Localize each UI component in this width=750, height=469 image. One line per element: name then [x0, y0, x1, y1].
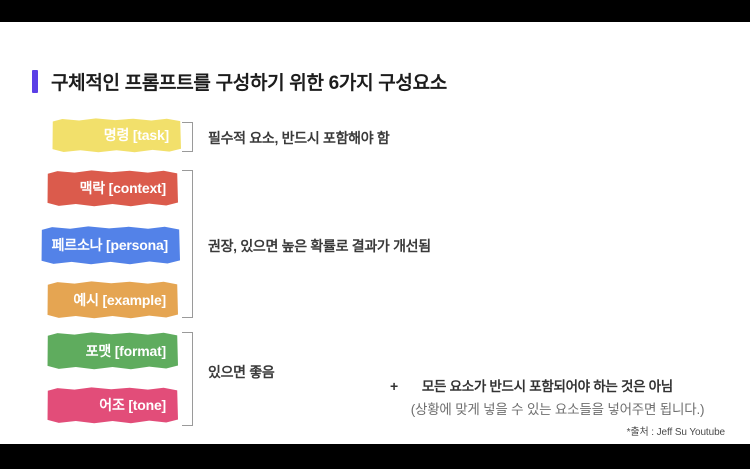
- letterbox-bar-bottom: [0, 444, 750, 469]
- group-description-recommended: 권장, 있으면 높은 확률로 결과가 개선됨: [208, 236, 431, 256]
- footnote-secondary-text: (상황에 맞게 넣을 수 있는 요소들을 넣어주면 됩니다.): [390, 398, 725, 418]
- component-chip-persona[interactable]: 페르소나 [persona]: [41, 226, 180, 265]
- component-chip-task[interactable]: 명령 [task]: [52, 118, 181, 153]
- group-bracket-optional: [182, 332, 193, 426]
- group-description-required: 필수적 요소, 반드시 포함해야 함: [208, 128, 390, 148]
- title-accent-bar: [32, 70, 38, 93]
- footnote-primary-row: + 모든 요소가 반드시 포함되어야 하는 것은 아님: [390, 375, 725, 395]
- slide-canvas: 구체적인 프롬프트를 구성하기 위한 6가지 구성요소 명령 [task] 맥락…: [0, 0, 750, 469]
- footnote-primary-text: 모든 요소가 반드시 포함되어야 하는 것은 아님: [422, 375, 673, 395]
- component-chip-context[interactable]: 맥락 [context]: [47, 170, 178, 207]
- group-bracket-recommended: [182, 170, 193, 318]
- component-chip-example[interactable]: 예시 [example]: [47, 281, 178, 319]
- component-chip-tone[interactable]: 어조 [tone]: [47, 387, 178, 424]
- page-title: 구체적인 프롬프트를 구성하기 위한 6가지 구성요소: [32, 68, 447, 95]
- title-text: 구체적인 프롬프트를 구성하기 위한 6가지 구성요소: [51, 68, 447, 95]
- group-bracket-required: [182, 122, 193, 152]
- letterbox-bar-top: [0, 0, 750, 22]
- group-description-optional: 있으면 좋음: [208, 362, 275, 382]
- plus-icon: +: [390, 378, 398, 394]
- source-attribution: *출처 : Jeff Su Youtube: [0, 423, 725, 438]
- component-chip-format[interactable]: 포맷 [format]: [47, 332, 178, 370]
- footnote-block: + 모든 요소가 반드시 포함되어야 하는 것은 아님 (상황에 맞게 넣을 수…: [390, 375, 725, 418]
